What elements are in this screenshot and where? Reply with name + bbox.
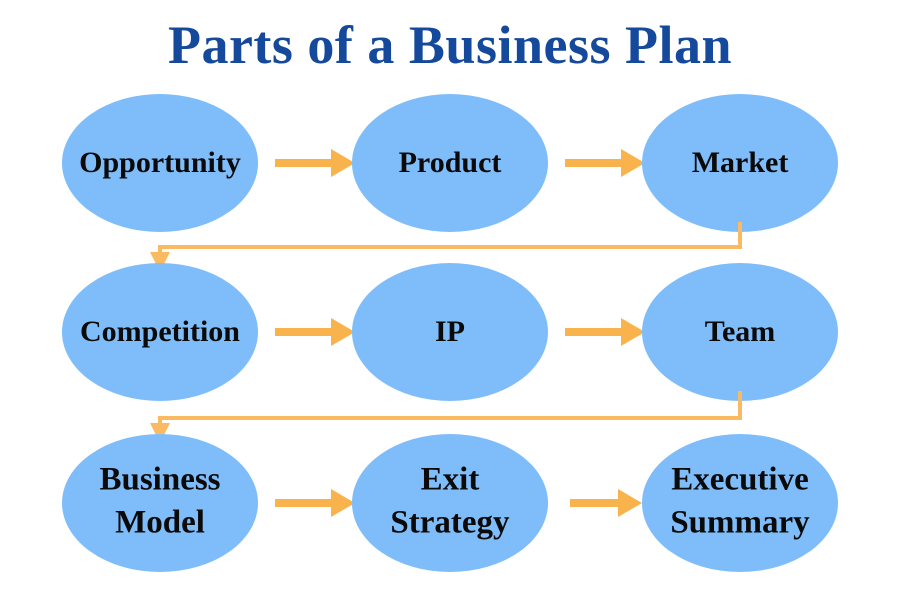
- node-opportunity[interactable]: Opportunity: [62, 94, 258, 232]
- node-label: IP: [435, 315, 465, 348]
- node-market[interactable]: Market: [642, 94, 838, 232]
- arrow-shaft: [565, 159, 621, 167]
- diagram-canvas: Parts of a Business Plan Opportunity Pro…: [0, 0, 900, 600]
- ellipse-shape: [352, 434, 548, 572]
- node-label: Opportunity: [79, 146, 241, 179]
- node-label-line-2: Summary: [670, 505, 810, 541]
- arrow-head: [331, 318, 355, 346]
- node-label: Product: [399, 146, 502, 179]
- arrow-competition-ip: [275, 318, 355, 346]
- arrow-head: [331, 149, 355, 177]
- node-product[interactable]: Product: [352, 94, 548, 232]
- node-ip[interactable]: IP: [352, 263, 548, 401]
- arrow-shaft: [275, 328, 331, 336]
- node-business-model[interactable]: Business Model: [62, 434, 258, 572]
- node-label-line-2: Strategy: [390, 505, 510, 541]
- arrow-head: [621, 149, 645, 177]
- arrow-shaft: [565, 328, 621, 336]
- arrow-shaft: [570, 499, 618, 507]
- arrow-business-model-exit-strategy: [275, 489, 355, 517]
- arrow-head: [331, 489, 355, 517]
- node-team[interactable]: Team: [642, 263, 838, 401]
- ellipse-shape: [62, 434, 258, 572]
- node-label-line-2: Model: [115, 505, 205, 541]
- arrow-shaft: [275, 159, 331, 167]
- node-label-line-1: Executive: [671, 462, 808, 498]
- ellipse-shape: [642, 434, 838, 572]
- arrow-product-market: [565, 149, 645, 177]
- flow-row-2: Competition IP Team: [62, 263, 838, 401]
- node-exit-strategy[interactable]: Exit Strategy: [352, 434, 548, 572]
- node-competition[interactable]: Competition: [62, 263, 258, 401]
- node-executive-summary[interactable]: Executive Summary: [642, 434, 838, 572]
- node-label: Competition: [80, 315, 240, 348]
- node-label: Team: [705, 315, 776, 348]
- node-label: Market: [692, 146, 789, 179]
- node-label-line-1: Exit: [421, 462, 480, 498]
- arrow-ip-team: [565, 318, 645, 346]
- flowchart-svg: Opportunity Product Market: [0, 0, 900, 600]
- arrow-shaft: [275, 499, 331, 507]
- flow-row-1: Opportunity Product Market: [62, 94, 838, 232]
- arrow-opportunity-product: [275, 149, 355, 177]
- node-label-line-1: Business: [99, 462, 220, 498]
- arrow-head: [618, 489, 642, 517]
- arrow-exit-strategy-executive-summary: [570, 489, 642, 517]
- flow-row-3: Business Model Exit Strategy Executive S…: [62, 434, 838, 572]
- arrow-head: [621, 318, 645, 346]
